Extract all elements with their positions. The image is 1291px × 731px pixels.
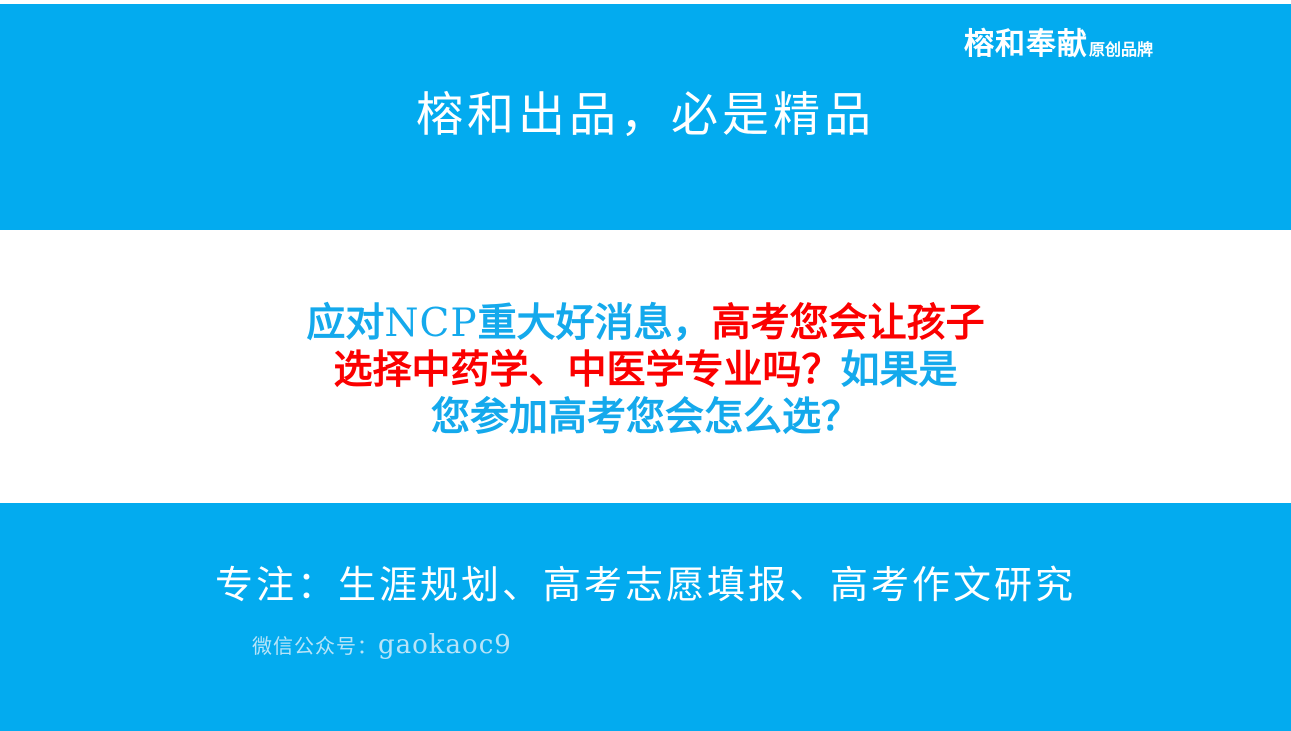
focus-statement: 专注：生涯规划、高考志愿填报、高考作文研究 bbox=[0, 562, 1291, 610]
slide-canvas: 榕和奉献 原创品牌 榕和出品，必是精品 应对NCP重大好消息，高考您会让孩子 选… bbox=[0, 0, 1291, 731]
question-line-2: 选择中药学、中医学专业吗？如果是 bbox=[0, 347, 1291, 394]
question-line-3: 您参加高考您会怎么选？ bbox=[0, 394, 1291, 441]
page-title: 榕和出品，必是精品 bbox=[0, 88, 1291, 144]
question-line-1-seg-1: 应对 bbox=[306, 301, 384, 346]
question-line-2-seg-1: 选择中药学、中医学专业吗？ bbox=[333, 348, 840, 393]
question-line-3-seg-1: 您参加高考您会怎么选？ bbox=[431, 395, 860, 440]
bottom-blue-band bbox=[0, 503, 1291, 731]
question-line-2-seg-2: 如果是 bbox=[841, 348, 958, 393]
wechat-handle: gaokaoc9 bbox=[378, 630, 512, 660]
wechat-account: 微信公众号：gaokaoc9 bbox=[252, 630, 512, 660]
question-line-1-ncp: NCP bbox=[384, 301, 477, 346]
question-line-1: 应对NCP重大好消息，高考您会让孩子 bbox=[0, 300, 1291, 347]
brand-logo-main: 榕和奉献 bbox=[964, 30, 1088, 60]
brand-logo-sub: 原创品牌 bbox=[1089, 42, 1153, 58]
question-block: 应对NCP重大好消息，高考您会让孩子 选择中药学、中医学专业吗？如果是 您参加高… bbox=[0, 300, 1291, 441]
question-line-1-seg-3: 高考您会让孩子 bbox=[712, 301, 985, 346]
question-line-1-seg-2: 重大好消息， bbox=[478, 301, 712, 346]
brand-logo: 榕和奉献 原创品牌 bbox=[964, 30, 1153, 60]
wechat-label: 微信公众号： bbox=[252, 634, 378, 658]
